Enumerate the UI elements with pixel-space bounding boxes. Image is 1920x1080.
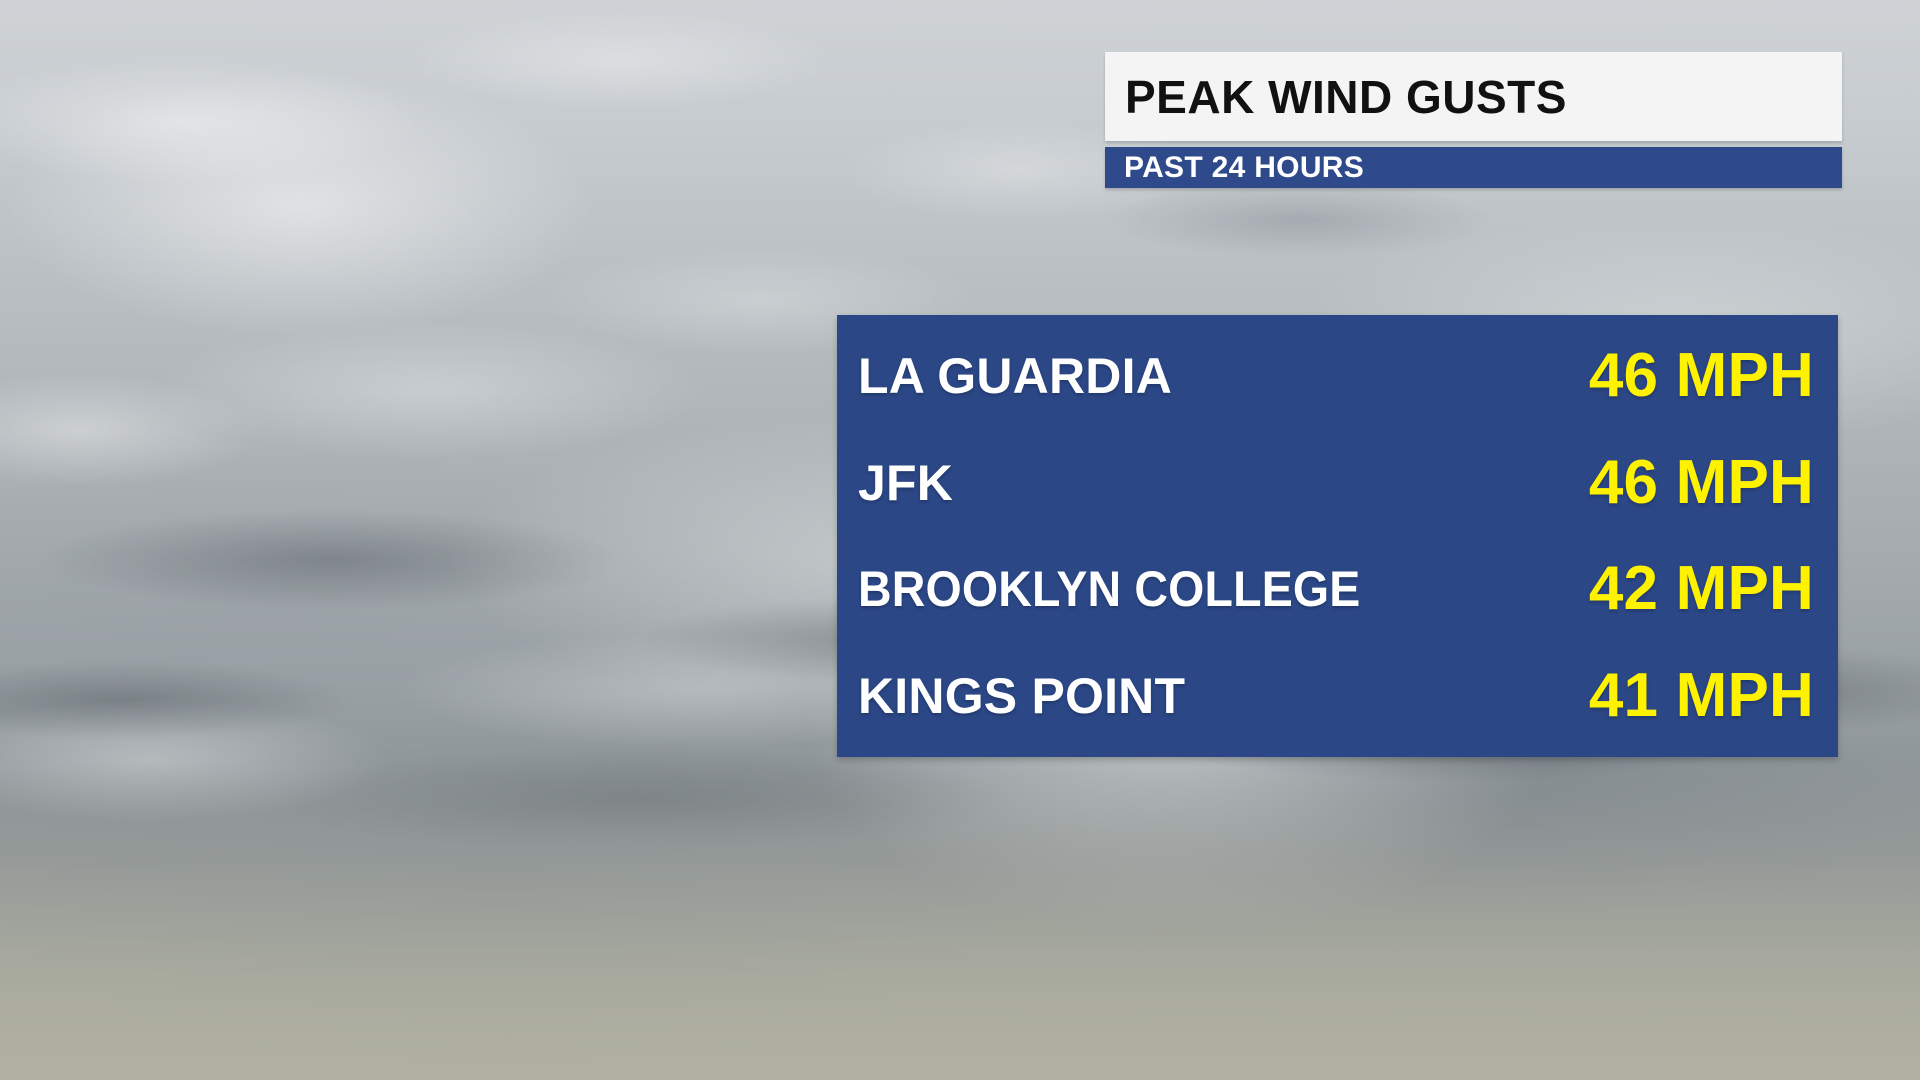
station-label: LA GUARDIA [858,351,1172,401]
wind-gust-table: LA GUARDIA 46 MPH JFK 46 MPH BROOKLYN CO… [837,315,1838,757]
table-row: KINGS POINT 41 MPH [837,643,1838,750]
subtitle-bar: PAST 24 HOURS [1105,147,1842,188]
table-row: JFK 46 MPH [837,430,1838,537]
station-label: JFK [858,458,953,508]
page-title: PEAK WIND GUSTS [1125,74,1567,120]
table-row: LA GUARDIA 46 MPH [837,323,1838,430]
gust-value: 46 MPH [1589,345,1814,407]
station-label: BROOKLYN COLLEGE [858,564,1360,614]
gust-value: 46 MPH [1589,452,1814,514]
gust-value: 41 MPH [1589,665,1814,727]
station-label: KINGS POINT [858,671,1185,721]
table-row: BROOKLYN COLLEGE 42 MPH [837,536,1838,643]
title-bar: PEAK WIND GUSTS [1105,52,1842,141]
gust-value: 42 MPH [1589,558,1814,620]
subtitle-text: PAST 24 HOURS [1124,153,1364,183]
weather-graphic-stage: PEAK WIND GUSTS PAST 24 HOURS LA GUARDIA… [0,0,1920,1080]
